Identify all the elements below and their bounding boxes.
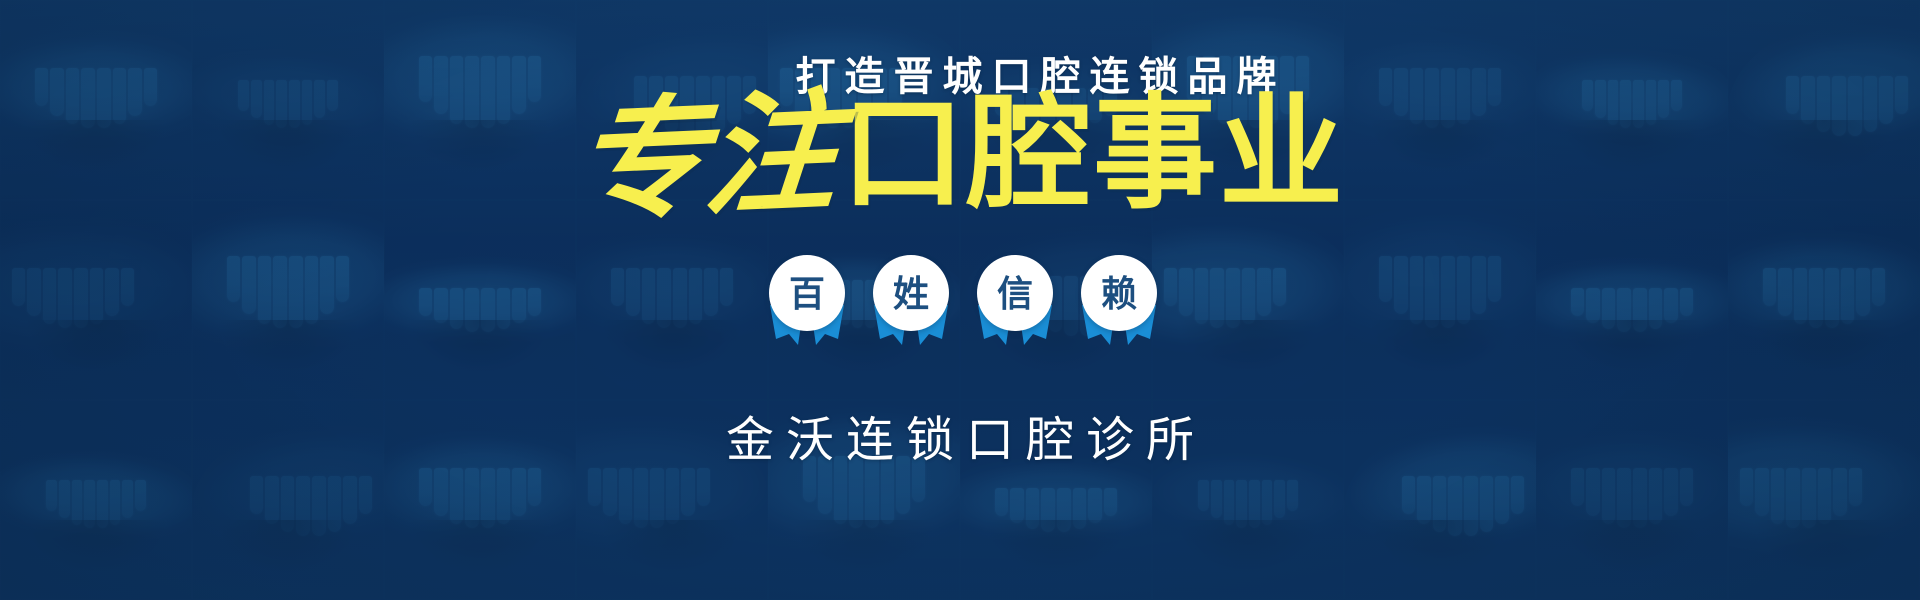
headline: 专注 口腔事业 bbox=[0, 84, 1920, 224]
badge-disc: 信 bbox=[977, 255, 1053, 331]
trust-badge: 百 bbox=[769, 255, 845, 331]
badge-label: 姓 bbox=[893, 276, 929, 312]
trust-badge: 信 bbox=[977, 255, 1053, 331]
trust-badge: 姓 bbox=[873, 255, 949, 331]
headline-brush-text: 专注 bbox=[569, 86, 841, 229]
badge-label: 信 bbox=[997, 276, 1033, 312]
clinic-name: 金沃连锁口腔诊所 bbox=[0, 400, 1920, 470]
dental-clinic-banner: 打造晋城口腔连锁品牌 专注 口腔事业 百 bbox=[0, 0, 1920, 600]
badge-disc: 姓 bbox=[873, 255, 949, 331]
banner-content: 打造晋城口腔连锁品牌 专注 口腔事业 百 bbox=[0, 0, 1920, 600]
badge-label: 赖 bbox=[1101, 276, 1137, 312]
badge-disc: 赖 bbox=[1081, 255, 1157, 331]
trust-badge: 赖 bbox=[1081, 255, 1157, 331]
badge-label: 百 bbox=[789, 276, 825, 312]
trust-badge-row: 百 姓 信 bbox=[0, 255, 1920, 331]
headline-solid-text: 口腔事业 bbox=[841, 92, 1345, 216]
badge-disc: 百 bbox=[769, 255, 845, 331]
